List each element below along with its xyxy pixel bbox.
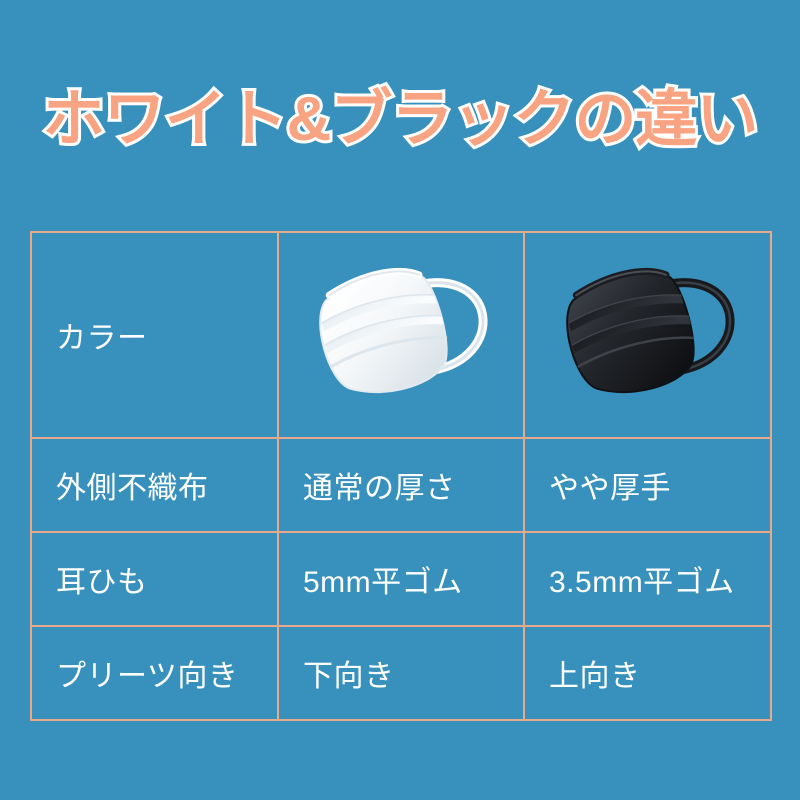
black-mask-image-wrap	[525, 233, 770, 437]
row-label-ear-loop: 耳ひも	[31, 532, 278, 626]
table-row: プリーツ向き 下向き 上向き	[31, 626, 771, 720]
white-mask-image-wrap	[279, 233, 523, 437]
white-surgical-mask-image	[301, 257, 501, 413]
cell-black-ear-loop: 3.5mm平ゴム	[524, 532, 771, 626]
row-label-outer-fabric: 外側不織布	[31, 438, 278, 532]
table-row: カラー	[31, 232, 771, 438]
cell-white-pleat-direction: 下向き	[278, 626, 524, 720]
cell-black-outer-fabric: やや厚手	[524, 438, 771, 532]
cell-black-pleat-direction: 上向き	[524, 626, 771, 720]
table-row: 耳ひも 5mm平ゴム 3.5mm平ゴム	[31, 532, 771, 626]
row-label-color: カラー	[31, 232, 278, 438]
cell-white-outer-fabric: 通常の厚さ	[278, 438, 524, 532]
row-label-pleat-direction: プリーツ向き	[31, 626, 278, 720]
cell-white-ear-loop: 5mm平ゴム	[278, 532, 524, 626]
table-row: 外側不織布 通常の厚さ やや厚手	[31, 438, 771, 532]
page-title: ホワイト&ブラックの違い	[0, 84, 800, 156]
cell-white-mask-image	[278, 232, 524, 438]
mask-comparison-infographic: ホワイト&ブラックの違い カラー	[0, 0, 800, 800]
comparison-table: カラー	[30, 231, 772, 721]
cell-black-mask-image	[524, 232, 771, 438]
black-surgical-mask-image	[548, 257, 748, 413]
